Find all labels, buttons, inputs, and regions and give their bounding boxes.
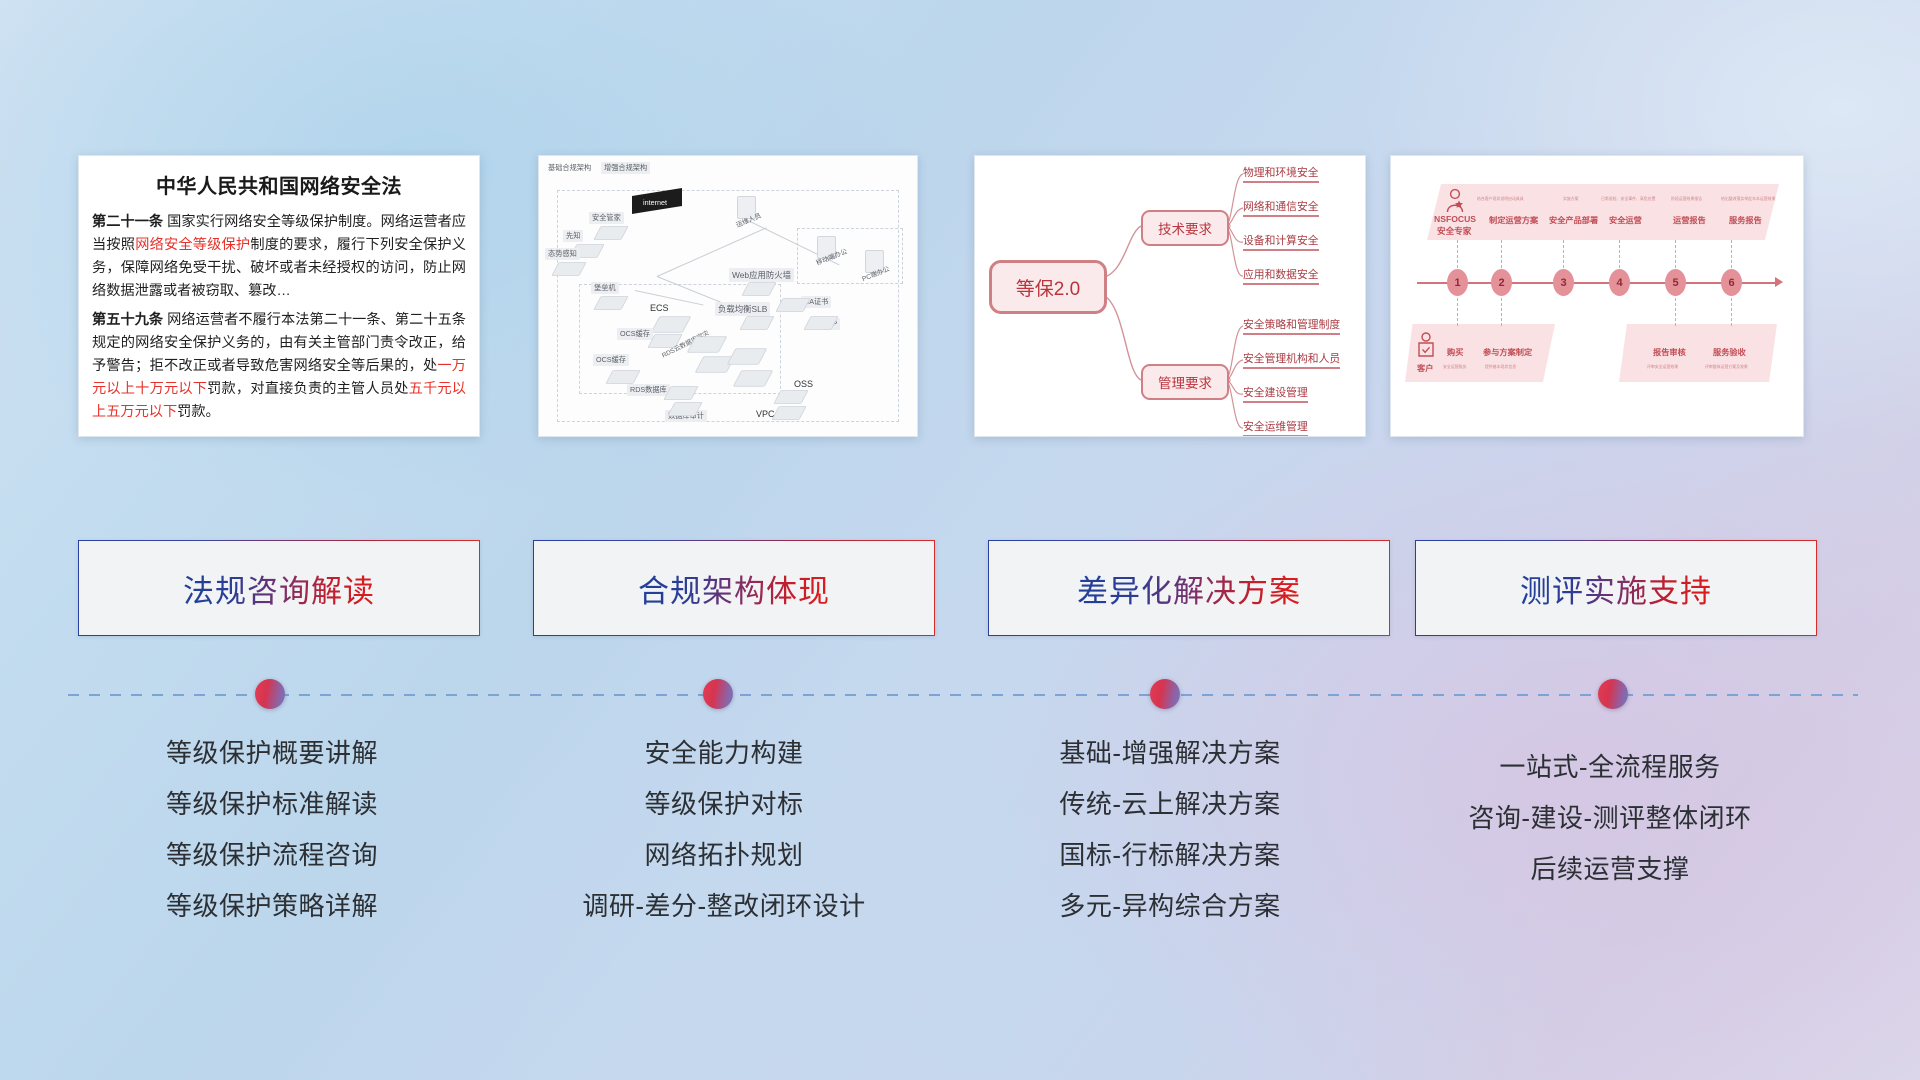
nsfocus-bottom-sub-3: 评审安全运营效果: [1647, 364, 1678, 370]
nsfocus-dash-1d: [1457, 298, 1459, 326]
nsfocus-expert-label-line1: NSFOCUS: [1434, 214, 1476, 224]
nsfocus-top-sub-4: 阶段运营效果报告: [1671, 196, 1702, 202]
nsfocus-bottom-sub-4: 评审整体运营方案及效果: [1705, 364, 1748, 370]
arch-label-waf: Web应用防火墙: [729, 268, 794, 282]
arch-label-anqishi: OCS缓存: [617, 328, 653, 340]
arch-label-slb: 负载均衡SLB: [715, 302, 770, 316]
nsfocus-bottom-title-3: 报告审核: [1653, 346, 1686, 358]
card-cybersecurity-law: 中华人民共和国网络安全法 第二十一条 国家实行网络安全等级保护制度。网络运营者应…: [78, 155, 480, 437]
card-dengbao-mindmap: 等保2.0 技术要求 物理和环境安全 网络和通信安全 设备和计算安全 应用和数据…: [974, 155, 1366, 437]
law-title: 中华人民共和国网络安全法: [92, 170, 466, 199]
list-item: 调研-差分-整改闭环设计: [514, 893, 934, 919]
architecture-diagram: 基础合规架构 增强合规架构 internet 安全管家 先知 态势感知: [539, 156, 917, 436]
arch-label-ocs-cache: OCS缓存: [593, 354, 629, 366]
mindmap-root: 等保2.0: [989, 260, 1107, 314]
detail-list-4: 一站式-全流程服务 咨询-建设-测评整体闭环 后续运营支撑: [1400, 740, 1820, 907]
slide-canvas: 中华人民共和国网络安全法 第二十一条 国家实行网络安全等级保护制度。网络运营者应…: [0, 0, 1920, 1080]
mindmap-leaf-build: 安全建设管理: [1243, 384, 1308, 403]
headline-box-differentiated-solution[interactable]: 差异化解决方案: [988, 540, 1390, 636]
nsfocus-dash-5u: [1675, 240, 1677, 268]
law-article-59-label: 第五十九条: [92, 312, 163, 328]
nsfocus-top-sub-2: 实施方案: [1563, 196, 1579, 202]
law-document: 中华人民共和国网络安全法 第二十一条 国家实行网络安全等级保护制度。网络运营者应…: [79, 156, 479, 436]
detail-list-1: 等级保护概要讲解 等级保护标准解读 等级保护流程咨询 等级保护策略详解: [62, 740, 482, 944]
list-item: 等级保护标准解读: [62, 791, 482, 817]
list-item: 传统-云上解决方案: [960, 791, 1380, 817]
timeline-dot-4: [1598, 679, 1628, 709]
nsfocus-bottom-sub-2: 提供基本现状信息: [1485, 364, 1516, 370]
law-article-59-end: 罚款。: [177, 404, 220, 420]
nsfocus-node-4: 4: [1609, 269, 1630, 296]
headline-box-assessment-support[interactable]: 测评实施支持: [1415, 540, 1817, 636]
nsfocus-bottom-title-4: 服务验收: [1713, 346, 1746, 358]
mindmap: 等保2.0 技术要求 物理和环境安全 网络和通信安全 设备和计算安全 应用和数据…: [975, 156, 1365, 436]
list-item: 多元-异构综合方案: [960, 893, 1380, 919]
card-nsfocus-process: NSFOCUS 安全专家 客户 结合客户现状说明启动具具 制定运营方案 实施方案…: [1390, 155, 1804, 437]
nsfocus-dash-3u: [1563, 240, 1565, 268]
headline-label-1: 法规咨询解读: [183, 566, 375, 611]
nsfocus-bottom-band-right: [1619, 324, 1777, 382]
headline-label-2: 合规架构体现: [638, 566, 830, 611]
mindmap-leaf-network-comm: 网络和通信安全: [1243, 198, 1319, 217]
nsfocus-customer-label: 客户: [1417, 362, 1433, 374]
nsfocus-dash-4u: [1619, 240, 1621, 268]
nsfocus-dash-2u: [1501, 240, 1503, 268]
nsfocus-dash-6u: [1731, 240, 1733, 268]
headline-label-4: 测评实施支持: [1520, 566, 1712, 611]
arch-label-ecs: ECS: [647, 302, 672, 314]
nsfocus-dash-6d: [1731, 298, 1733, 326]
nsfocus-node-2: 2: [1491, 269, 1512, 296]
law-article-21-label: 第二十一条: [92, 214, 163, 230]
arch-label-internet: internet: [640, 197, 670, 208]
mindmap-leaf-device-compute: 设备和计算安全: [1243, 232, 1319, 251]
nsfocus-node-5: 5: [1665, 269, 1686, 296]
image-card-row: 中华人民共和国网络安全法 第二十一条 国家实行网络安全等级保护制度。网络运营者应…: [0, 0, 1920, 470]
arch-label-oss: OSS: [791, 378, 816, 390]
mindmap-branch-technical: 技术要求: [1141, 210, 1229, 246]
nsfocus-bottom-title-2: 参与方案制定: [1483, 346, 1532, 358]
list-item: 基础-增强解决方案: [960, 740, 1380, 766]
mindmap-branch-management: 管理要求: [1141, 364, 1229, 400]
nsfocus-bottom-sub-1: 安全运营服务: [1443, 364, 1466, 370]
headline-box-compliance-architecture[interactable]: 合规架构体现: [533, 540, 935, 636]
law-article-21: 第二十一条 国家实行网络安全等级保护制度。网络运营者应当按照网络安全等级保护制度…: [92, 211, 466, 303]
nsfocus-node-3: 3: [1553, 269, 1574, 296]
nsfocus-top-sub-1: 结合客户现状说明启动具具: [1477, 196, 1524, 202]
detail-list-2: 安全能力构建 等级保护对标 网络拓扑规划 调研-差分-整改闭环设计: [514, 740, 934, 944]
mindmap-leaf-org: 安全管理机构和人员: [1243, 350, 1340, 369]
timeline-dot-1: [255, 679, 285, 709]
nsfocus-axis-arrow-icon: [1775, 277, 1783, 287]
list-item: 等级保护对标: [514, 791, 934, 817]
arch-label-bastion: 堡垒机: [591, 282, 619, 294]
list-item: 一站式-全流程服务: [1400, 754, 1820, 780]
card-compliance-architecture: 基础合规架构 增强合规架构 internet 安全管家 先知 态势感知: [538, 155, 918, 437]
security-expert-icon: [1443, 188, 1467, 214]
mindmap-leaf-ops: 安全运维管理: [1243, 418, 1308, 437]
nsfocus-top-sub-3: 日常巡检、安全事件、高危处置: [1601, 196, 1655, 202]
arch-label-situation-awareness: 态势感知: [545, 248, 580, 260]
nsfocus-dash-5d: [1675, 298, 1677, 326]
list-item: 咨询-建设-测评整体闭环: [1400, 805, 1820, 831]
nsfocus-top-title-2: 安全产品部署: [1549, 214, 1598, 226]
nsfocus-dash-1u: [1457, 240, 1459, 268]
customer-icon: [1415, 332, 1437, 360]
nsfocus-top-sub-5: 给出整改落实举此年本运营效果: [1721, 196, 1775, 202]
law-article-59: 第五十九条 网络运营者不履行本法第二十一条、第二十五条规定的网络安全保护义务的，…: [92, 309, 466, 424]
list-item: 等级保护流程咨询: [62, 842, 482, 868]
arch-label-security-butler: 安全管家: [589, 212, 624, 224]
list-item: 安全能力构建: [514, 740, 934, 766]
list-item: 网络拓扑规划: [514, 842, 934, 868]
list-item: 等级保护概要讲解: [62, 740, 482, 766]
detail-list-row: 等级保护概要讲解 等级保护标准解读 等级保护流程咨询 等级保护策略详解 安全能力…: [0, 740, 1920, 970]
headline-label-3: 差异化解决方案: [1077, 566, 1301, 611]
nsfocus-dash-2d: [1501, 298, 1503, 326]
arch-label-rds: RDS数据库: [627, 384, 670, 396]
law-article-21-red: 网络安全等级保护: [135, 237, 250, 253]
headline-row: 法规咨询解读 合规架构体现 差异化解决方案 测评实施支持: [0, 540, 1920, 640]
nsfocus-timeline: NSFOCUS 安全专家 客户 结合客户现状说明启动具具 制定运营方案 实施方案…: [1391, 156, 1803, 436]
nsfocus-node-1: 1: [1447, 269, 1468, 296]
timeline-dot-3: [1150, 679, 1180, 709]
nsfocus-top-title-1: 制定运营方案: [1489, 214, 1538, 226]
nsfocus-expert-label-line2: 安全专家: [1437, 225, 1471, 237]
law-article-59-mid: 罚款，对直接负责的主管人员处: [207, 381, 408, 397]
list-item: 后续运营支撑: [1400, 856, 1820, 882]
arch-tab-basic: 基础合规架构: [545, 162, 594, 174]
mindmap-leaf-app-data: 应用和数据安全: [1243, 266, 1319, 285]
timeline-dot-2: [703, 679, 733, 709]
list-item: 等级保护策略详解: [62, 893, 482, 919]
detail-list-3: 基础-增强解决方案 传统-云上解决方案 国标-行标解决方案 多元-异构综合方案: [960, 740, 1380, 944]
mindmap-leaf-policy: 安全策略和管理制度: [1243, 316, 1340, 335]
timeline-dashed-line: [68, 694, 1858, 696]
nsfocus-top-title-5: 服务报告: [1729, 214, 1762, 226]
arch-tab-enhanced: 增强合规架构: [601, 162, 650, 174]
nsfocus-top-title-4: 运营报告: [1673, 214, 1706, 226]
arch-label-xianzhi: 先知: [563, 230, 583, 242]
headline-box-regulation-consulting[interactable]: 法规咨询解读: [78, 540, 480, 636]
list-item: 国标-行标解决方案: [960, 842, 1380, 868]
nsfocus-top-title-3: 安全运营: [1609, 214, 1642, 226]
nsfocus-node-6: 6: [1721, 269, 1742, 296]
mindmap-leaf-physical-env: 物理和环境安全: [1243, 164, 1319, 183]
nsfocus-top-band: [1427, 184, 1779, 240]
nsfocus-bottom-title-1: 购买: [1447, 346, 1463, 358]
